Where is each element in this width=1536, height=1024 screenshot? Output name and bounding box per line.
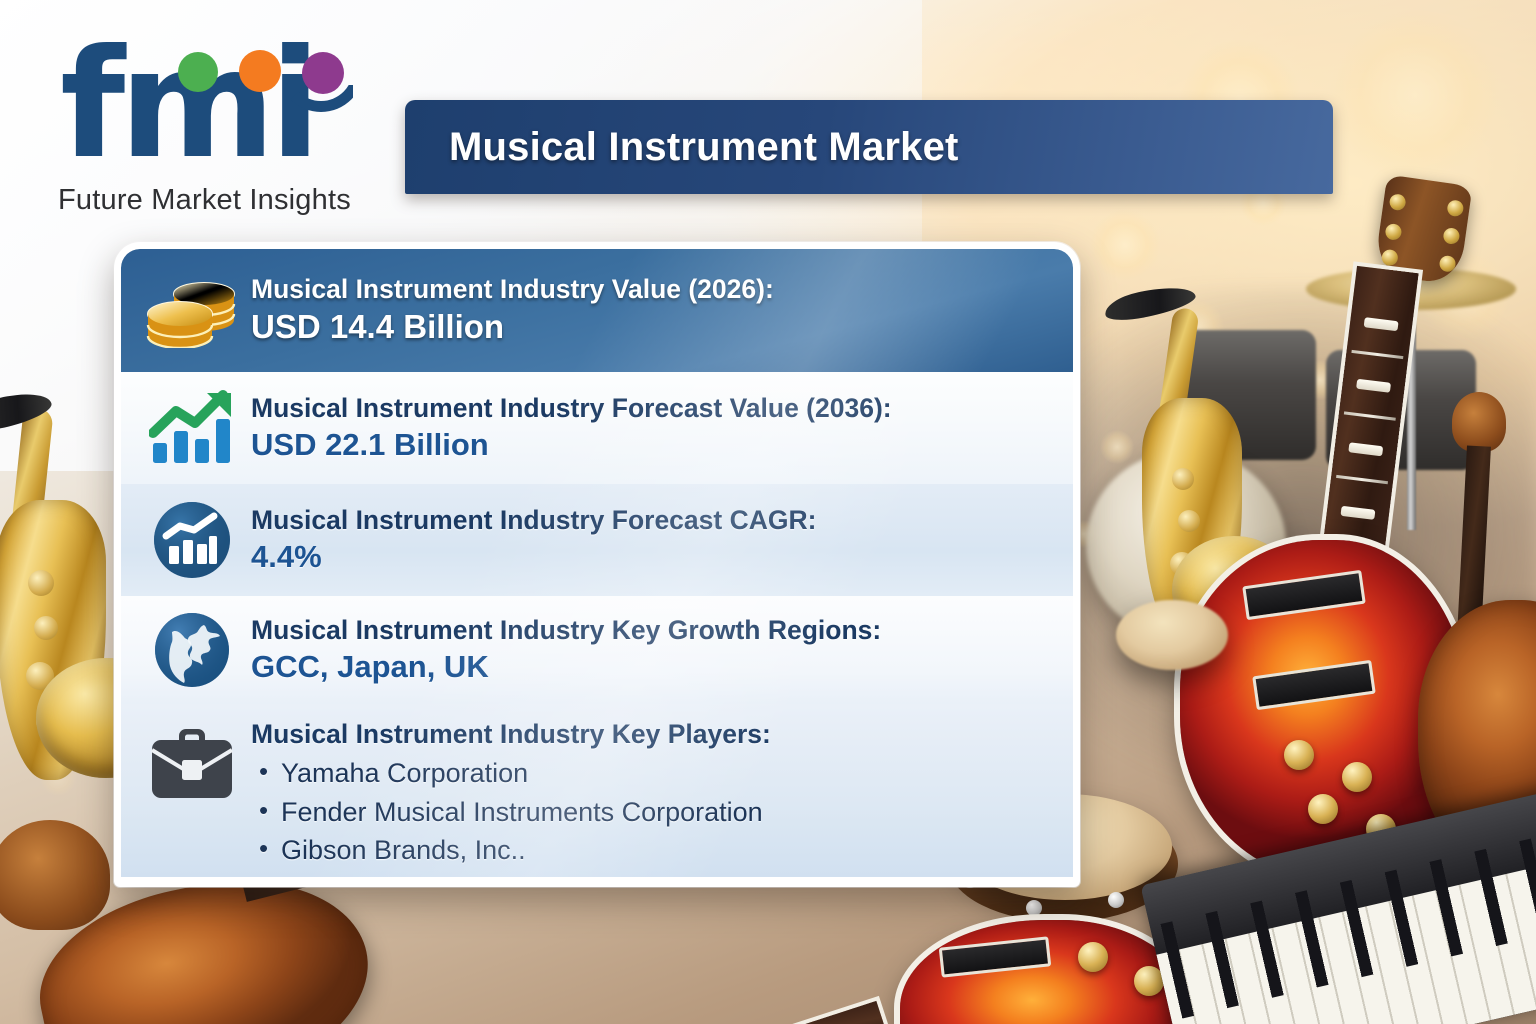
- globe-icon: [139, 610, 245, 690]
- analytics-circle-icon: [139, 500, 245, 580]
- logo-dot-icon: [178, 52, 218, 92]
- briefcase-icon: [139, 718, 245, 802]
- fact-label: Musical Instrument Industry Key Growth R…: [251, 614, 1073, 646]
- list-item: Fender Musical Instruments Corporation: [251, 793, 1073, 831]
- fact-row-industry-value: Musical Instrument Industry Value (2026)…: [121, 249, 1073, 372]
- fact-value: GCC, Japan, UK: [251, 648, 1073, 686]
- key-players-list: Yamaha Corporation Fender Musical Instru…: [251, 754, 1073, 869]
- page-title-banner: Musical Instrument Market: [405, 100, 1333, 194]
- key-facts-card: Musical Instrument Industry Value (2026)…: [114, 242, 1080, 887]
- fact-value: USD 22.1 Billion: [251, 426, 1073, 464]
- logo-dot-icon: [239, 50, 281, 92]
- violin-right-scroll: [1452, 392, 1506, 452]
- page-title: Musical Instrument Market: [449, 125, 959, 170]
- fact-label: Musical Instrument Industry Value (2026)…: [251, 273, 1073, 305]
- bongo-drum: [1116, 600, 1228, 670]
- fact-row-forecast-value: Musical Instrument Industry Forecast Val…: [121, 372, 1073, 484]
- fact-value: USD 14.4 Billion: [251, 307, 1073, 348]
- fact-label: Musical Instrument Industry Forecast Val…: [251, 392, 1073, 424]
- list-item: Gibson Brands, Inc..: [251, 831, 1073, 869]
- fact-row-key-players: Musical Instrument Industry Key Players:…: [121, 704, 1073, 887]
- fact-row-key-growth-regions: Musical Instrument Industry Key Growth R…: [121, 596, 1073, 704]
- coins-stack-icon: [139, 274, 245, 348]
- violin-case: [0, 820, 110, 930]
- fmi-logo[interactable]: fmi Future Market Insights: [52, 24, 382, 214]
- logo-wordmark: fmi: [60, 30, 315, 180]
- list-item: Yamaha Corporation: [251, 754, 1073, 792]
- logo-tagline: Future Market Insights: [58, 184, 351, 217]
- fact-label: Musical Instrument Industry Forecast CAG…: [251, 504, 1073, 536]
- fact-row-forecast-cagr: Musical Instrument Industry Forecast CAG…: [121, 484, 1073, 596]
- fact-label: Musical Instrument Industry Key Players:: [251, 718, 1073, 750]
- tambourine-jingle: [1108, 892, 1124, 908]
- fact-value: 4.4%: [251, 538, 1073, 576]
- growth-bar-chart-arrow-icon: [139, 389, 245, 467]
- tambourine-jingle: [1026, 900, 1042, 916]
